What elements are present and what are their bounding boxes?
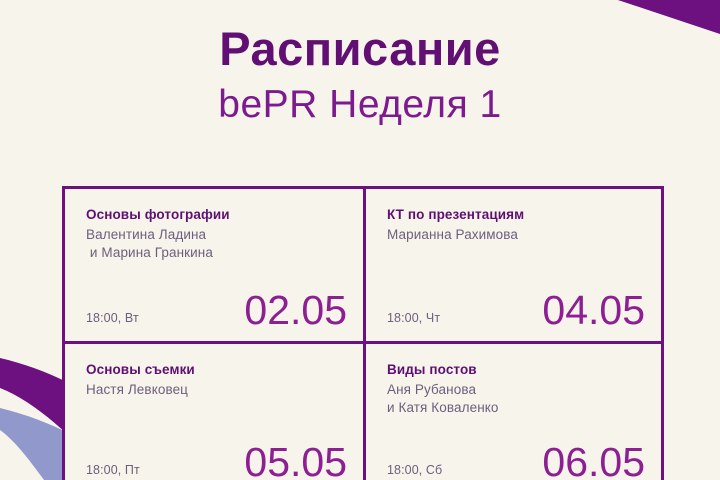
card-footer: 18:00, Вт 02.05 <box>86 291 347 330</box>
card-instructor-line: Аня Рубанова <box>387 381 645 399</box>
card-instructors: Марианна Рахимова <box>387 226 645 244</box>
card-footer: 18:00, Сб 06.05 <box>387 443 645 480</box>
card-instructors: Валентина Ладина и Марина Гранкина <box>86 226 347 262</box>
card-instructor-line: Настя Левковец <box>86 381 347 399</box>
schedule-grid: Основы фотографии Валентина Ладина и Мар… <box>62 186 664 480</box>
schedule-card-3[interactable]: Основы съемки Настя Левковец 18:00, Пт 0… <box>65 341 363 480</box>
page-subtitle: bePR Неделя 1 <box>0 73 720 126</box>
card-instructors: Настя Левковец <box>86 381 347 399</box>
card-instructor-line: Валентина Ладина <box>86 226 347 244</box>
card-footer: 18:00, Чт 04.05 <box>387 291 645 330</box>
card-date: 05.05 <box>244 443 347 480</box>
card-instructor-line: и Марина Гранкина <box>86 244 347 262</box>
card-footer: 18:00, Пт 05.05 <box>86 443 347 480</box>
card-time: 18:00, Сб <box>387 463 442 480</box>
card-time: 18:00, Пт <box>86 463 140 480</box>
card-date: 02.05 <box>244 291 347 330</box>
poster-header: Расписание bePR Неделя 1 <box>0 0 720 126</box>
schedule-card-4[interactable]: Виды постов Аня Рубанова и Катя Коваленк… <box>363 341 661 480</box>
card-date: 04.05 <box>542 291 645 330</box>
card-time: 18:00, Вт <box>86 311 139 330</box>
card-title: Основы фотографии <box>86 207 347 224</box>
card-time: 18:00, Чт <box>387 311 440 330</box>
card-instructor-line: и Катя Коваленко <box>387 399 645 417</box>
card-instructor-line: Марианна Рахимова <box>387 226 645 244</box>
schedule-poster: Расписание bePR Неделя 1 Основы фотограф… <box>0 0 720 480</box>
card-date: 06.05 <box>542 443 645 480</box>
card-instructors: Аня Рубанова и Катя Коваленко <box>387 381 645 417</box>
schedule-card-2[interactable]: КТ по презентациям Марианна Рахимова 18:… <box>363 189 661 341</box>
card-title: КТ по презентациям <box>387 207 645 224</box>
schedule-card-1[interactable]: Основы фотографии Валентина Ладина и Мар… <box>65 189 363 341</box>
page-title: Расписание <box>0 0 720 73</box>
card-title: Основы съемки <box>86 362 347 379</box>
card-title: Виды постов <box>387 362 645 379</box>
